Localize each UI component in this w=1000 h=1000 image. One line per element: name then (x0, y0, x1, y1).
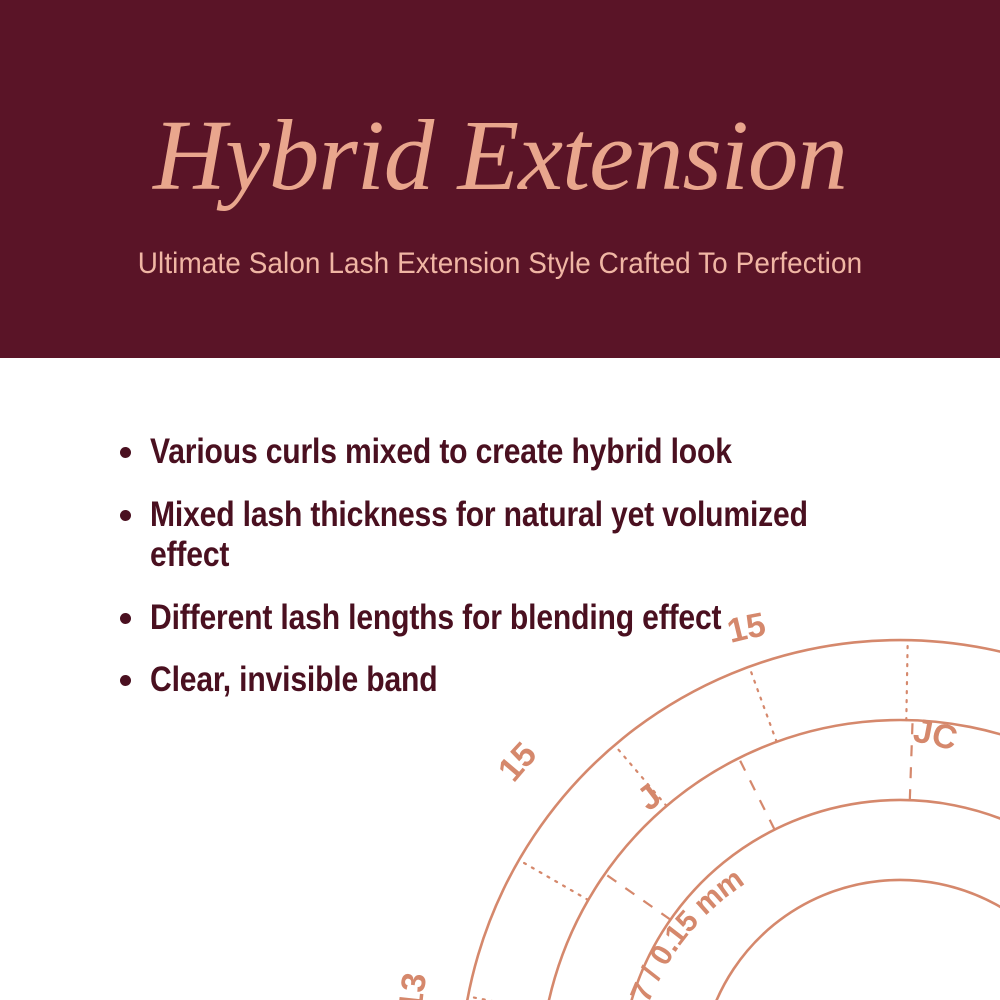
wheel-separator-curl (605, 874, 671, 920)
wheel-label-thickness: 0.07 / 0.15 mm (612, 862, 750, 1000)
list-item: Various curls mixed to create hybrid loo… (118, 432, 878, 473)
wheel-separator-length (468, 996, 546, 1000)
page-title: Hybrid Extension (0, 104, 1000, 207)
bullet-dot-icon (120, 675, 131, 686)
poster-canvas: Hybrid Extension Ultimate Salon Lash Ext… (0, 0, 1000, 1000)
wheel-separator-curl (910, 720, 913, 800)
list-item-label: Various curls mixed to create hybrid loo… (150, 432, 876, 473)
list-item-label: Mixed lash thickness for natural yet vol… (150, 495, 876, 576)
wheel-label-curl: JC (910, 712, 961, 759)
wheel-label-length: 13 (392, 970, 435, 1000)
list-item-label: Different lash lengths for blending effe… (150, 598, 876, 639)
list-item: Mixed lash thickness for natural yet vol… (118, 495, 878, 576)
wheel-arc-curl-thickness (620, 800, 1000, 1000)
wheel-arc-length-curl (540, 720, 1000, 1000)
wheel-arc-inner (700, 880, 1000, 1000)
wheel-label-curl: J (630, 777, 668, 819)
list-item: Clear, invisible band (118, 660, 878, 701)
wheel-separator-length (519, 860, 588, 900)
bullet-dot-icon (120, 613, 131, 624)
wheel-separator-length (906, 640, 907, 720)
wheel-separator-length (615, 745, 667, 806)
page-subtitle: Ultimate Salon Lash Extension Style Craf… (35, 247, 965, 282)
bullet-dot-icon (120, 510, 131, 521)
bullet-dot-icon (120, 447, 131, 458)
feature-list: Various curls mixed to create hybrid loo… (118, 432, 878, 723)
header-band: Hybrid Extension Ultimate Salon Lash Ext… (0, 0, 1000, 358)
wheel-label-length: 15 (491, 735, 545, 789)
wheel-separator-curl (739, 758, 775, 830)
list-item-label: Clear, invisible band (150, 660, 876, 701)
list-item: Different lash lengths for blending effe… (118, 598, 878, 639)
